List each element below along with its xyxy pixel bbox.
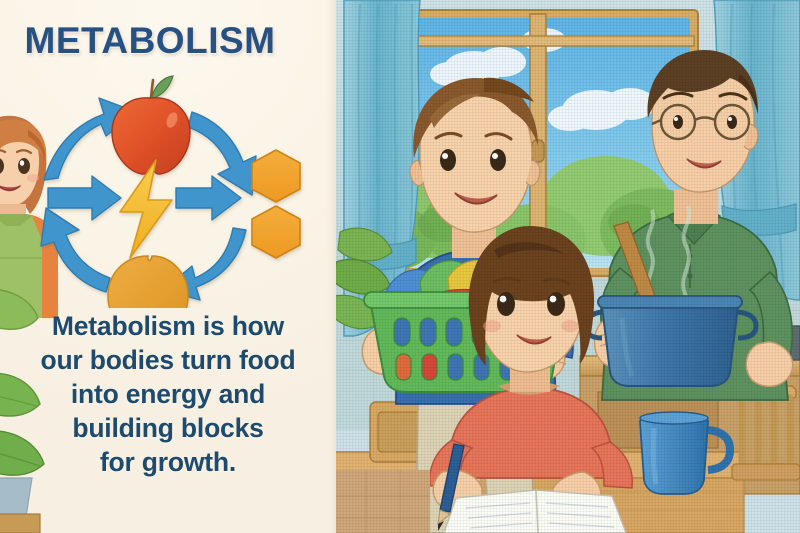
arrow-apple-to-molecules — [188, 112, 256, 195]
hexagon-pair-icon — [252, 150, 300, 258]
pot-rim — [598, 296, 742, 308]
family-kitchen-scene — [334, 0, 800, 533]
arrow-nutrient-to-person — [41, 208, 110, 292]
page-title: METABOLISM — [0, 20, 300, 62]
man-right-hand — [746, 342, 792, 386]
orange-circle-icon — [108, 256, 188, 308]
lightning-bolt-icon — [120, 160, 172, 258]
apple-icon — [112, 76, 190, 174]
metabolism-cycle-diagram — [0, 68, 334, 308]
potted-plant — [0, 282, 66, 533]
window-latch — [532, 140, 544, 162]
notebook — [444, 490, 626, 533]
arrow-person-to-energy — [48, 176, 121, 220]
left-info-panel: METABOLISM — [0, 0, 334, 533]
kitchen-floor — [334, 470, 430, 533]
infographic-canvas: METABOLISM — [0, 0, 800, 533]
